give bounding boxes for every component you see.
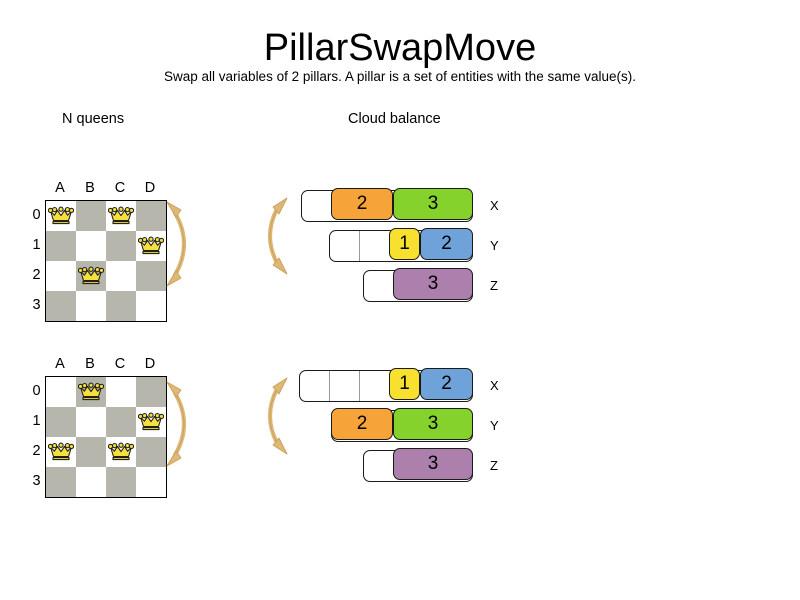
board-cell[interactable] bbox=[106, 437, 136, 467]
queen-icon bbox=[48, 204, 74, 228]
cloud-computer-label: Y bbox=[490, 410, 499, 442]
page-title: PillarSwapMove bbox=[0, 26, 800, 70]
board-row-label: 0 bbox=[30, 200, 43, 230]
cloud-process-block[interactable]: 3 bbox=[393, 188, 473, 220]
cloud-row: 3 bbox=[363, 450, 473, 482]
section-label-cloud: Cloud balance bbox=[348, 111, 441, 127]
board-cell[interactable] bbox=[136, 377, 166, 407]
cloud-row: 23 bbox=[331, 410, 473, 442]
board-cell[interactable] bbox=[136, 291, 166, 321]
board-column-labels: ABCD bbox=[45, 180, 165, 198]
board-cell[interactable] bbox=[76, 261, 106, 291]
section-label-nqueens: N queens bbox=[62, 111, 124, 127]
board-cell[interactable] bbox=[106, 407, 136, 437]
board-row-label: 3 bbox=[30, 290, 43, 320]
cloud-row: 12 bbox=[299, 370, 473, 402]
cloud-process-block[interactable]: 2 bbox=[420, 228, 473, 260]
board-cell[interactable] bbox=[76, 377, 106, 407]
board-grid bbox=[45, 200, 167, 322]
cloud-row: 23 bbox=[301, 190, 473, 222]
board-column-label: B bbox=[75, 356, 105, 372]
board-cell[interactable] bbox=[136, 261, 166, 291]
board-column-label: A bbox=[45, 356, 75, 372]
board-row-label: 2 bbox=[30, 436, 43, 466]
board-column-label: A bbox=[45, 180, 75, 196]
cloud-process-block[interactable]: 1 bbox=[389, 228, 420, 260]
board-row-label: 0 bbox=[30, 376, 43, 406]
cloud-process-block[interactable]: 3 bbox=[393, 268, 473, 300]
cloud-process-block[interactable]: 2 bbox=[331, 408, 393, 440]
board-cell[interactable] bbox=[46, 437, 76, 467]
cloud-computer-label: Y bbox=[490, 230, 499, 262]
cloud-process-block[interactable]: 1 bbox=[389, 368, 420, 400]
board-cell[interactable] bbox=[76, 467, 106, 497]
cloud-row: 3 bbox=[363, 270, 473, 302]
swap-arrow-nqueens-before bbox=[166, 200, 200, 288]
page-subtitle: Swap all variables of 2 pillars. A pilla… bbox=[0, 68, 800, 86]
cloud-process-block[interactable]: 2 bbox=[331, 188, 393, 220]
cloud-row: 12 bbox=[329, 230, 473, 262]
board-row-label: 3 bbox=[30, 466, 43, 496]
queen-icon bbox=[138, 410, 164, 434]
board-row-label: 1 bbox=[30, 230, 43, 260]
board-column-label: C bbox=[105, 180, 135, 196]
board-cell[interactable] bbox=[106, 201, 136, 231]
cloud-empty-cell-divider bbox=[359, 371, 360, 401]
board-cell[interactable] bbox=[46, 291, 76, 321]
board-cell[interactable] bbox=[136, 467, 166, 497]
queen-icon bbox=[138, 234, 164, 258]
board-cell[interactable] bbox=[46, 201, 76, 231]
swap-arrow-nqueens-after bbox=[166, 380, 200, 468]
board-cell[interactable] bbox=[76, 407, 106, 437]
board-cell[interactable] bbox=[46, 261, 76, 291]
queen-icon bbox=[78, 264, 104, 288]
cloud-computer-label: Z bbox=[490, 450, 498, 482]
cloud-process-block[interactable]: 2 bbox=[420, 368, 473, 400]
board-cell[interactable] bbox=[76, 291, 106, 321]
board-cell[interactable] bbox=[76, 231, 106, 261]
board-cell[interactable] bbox=[136, 407, 166, 437]
cloud-empty-cell-divider bbox=[359, 231, 360, 261]
board-cell[interactable] bbox=[136, 437, 166, 467]
board-row-label: 2 bbox=[30, 260, 43, 290]
board-column-label: D bbox=[135, 180, 165, 196]
cloud-computer-label: X bbox=[490, 370, 499, 402]
queen-icon bbox=[108, 204, 134, 228]
board-column-label: D bbox=[135, 356, 165, 372]
queen-icon bbox=[48, 440, 74, 464]
cloud-process-block[interactable]: 3 bbox=[393, 448, 473, 480]
board-cell[interactable] bbox=[46, 231, 76, 261]
cloud-process-block[interactable]: 3 bbox=[393, 408, 473, 440]
board-cell[interactable] bbox=[76, 437, 106, 467]
board-column-labels: ABCD bbox=[45, 356, 165, 374]
board-grid bbox=[45, 376, 167, 498]
board-cell[interactable] bbox=[106, 291, 136, 321]
cloud-empty-cell-divider bbox=[329, 371, 330, 401]
board-cell[interactable] bbox=[106, 261, 136, 291]
board-row-labels: 0123 bbox=[30, 376, 45, 496]
swap-arrow-cloud-before bbox=[268, 196, 302, 276]
board-cell[interactable] bbox=[46, 467, 76, 497]
board-cell[interactable] bbox=[46, 377, 76, 407]
board-cell[interactable] bbox=[106, 231, 136, 261]
queen-icon bbox=[78, 380, 104, 404]
board-cell[interactable] bbox=[76, 201, 106, 231]
swap-arrow-cloud-after bbox=[268, 376, 302, 456]
board-column-label: C bbox=[105, 356, 135, 372]
board-cell[interactable] bbox=[106, 377, 136, 407]
cloud-computer-label: X bbox=[490, 190, 499, 222]
board-cell[interactable] bbox=[136, 231, 166, 261]
board-cell[interactable] bbox=[136, 201, 166, 231]
board-row-label: 1 bbox=[30, 406, 43, 436]
board-cell[interactable] bbox=[106, 467, 136, 497]
board-cell[interactable] bbox=[46, 407, 76, 437]
queen-icon bbox=[108, 440, 134, 464]
cloud-computer-label: Z bbox=[490, 270, 498, 302]
board-row-labels: 0123 bbox=[30, 200, 45, 320]
board-column-label: B bbox=[75, 180, 105, 196]
